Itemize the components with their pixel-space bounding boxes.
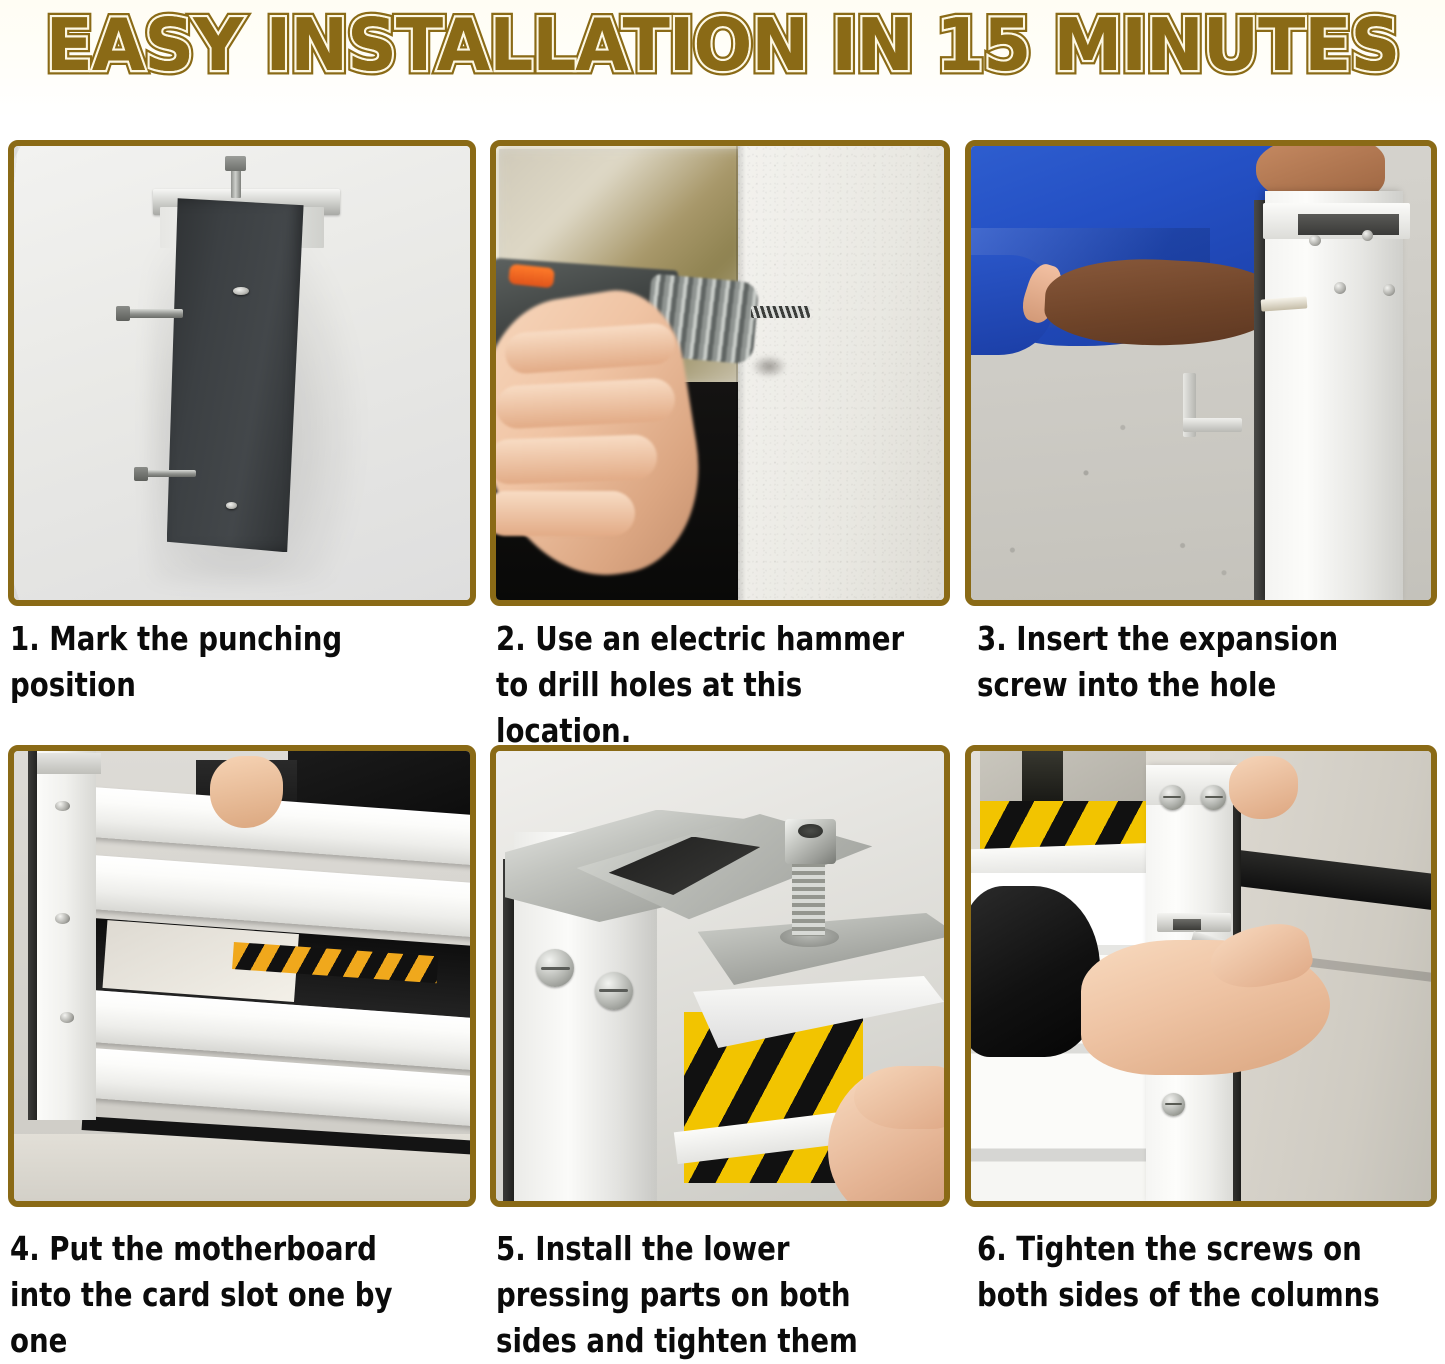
column-screw-1 xyxy=(55,801,70,812)
top-bolt-head xyxy=(225,156,246,171)
lower-side-bolt-head xyxy=(134,467,148,481)
white-column-post xyxy=(1265,191,1403,600)
step-1-photo xyxy=(14,146,470,600)
post-screw-4 xyxy=(1383,284,1395,296)
step-3-caption: 3. Insert the expansion screw into the h… xyxy=(977,616,1405,708)
finger-3 xyxy=(496,434,658,485)
step-5-caption: 5. Install the lower pressing parts on b… xyxy=(496,1226,919,1364)
step-4-caption: 4. Put the motherboard into the card slo… xyxy=(10,1226,447,1364)
step-2-caption: 2. Use an electric hammer to drill holes… xyxy=(496,616,919,754)
step-1-caption: 1. Mark the punching position xyxy=(10,616,447,708)
column-screw-2 xyxy=(55,913,70,924)
hand-fingers xyxy=(854,1066,944,1129)
upper-dark-gap xyxy=(1022,751,1063,801)
step-6-image-frame xyxy=(965,745,1437,1207)
post-screw-2 xyxy=(1362,230,1373,241)
drill-dust xyxy=(751,355,787,378)
step-5-image-frame xyxy=(490,745,950,1207)
step-6-photo xyxy=(971,751,1431,1201)
step-6-cell xyxy=(965,745,1437,1207)
step-3-cell xyxy=(965,140,1437,606)
step-4-image-frame xyxy=(8,745,476,1207)
second-hand-on-column xyxy=(1229,756,1298,819)
allen-key-short-arm xyxy=(1183,418,1243,432)
post-top-slot xyxy=(1298,214,1399,234)
step-5-photo xyxy=(496,751,944,1201)
step-2-cell xyxy=(490,140,950,606)
step-3-image-frame xyxy=(965,140,1437,606)
dark-grey-column xyxy=(167,198,304,552)
screwdriver-tip xyxy=(1173,919,1201,930)
wall-edge-shadow xyxy=(736,146,746,600)
column-lower-hole xyxy=(226,502,237,508)
column-top-bracket xyxy=(37,753,101,773)
step-5-cell xyxy=(490,745,950,1207)
column-lower-screw xyxy=(1162,1093,1185,1116)
step-3-photo xyxy=(971,146,1431,600)
step-2-photo xyxy=(496,146,944,600)
masonry-drill-bit xyxy=(751,306,809,318)
column-screw-3 xyxy=(60,1012,75,1023)
step-4-cell xyxy=(8,745,476,1207)
finger-4 xyxy=(496,491,635,536)
hex-bolt-thread xyxy=(792,859,826,936)
step-4-photo xyxy=(14,751,470,1201)
step-2-image-frame xyxy=(490,140,950,606)
column-top-screw-2 xyxy=(1201,785,1226,810)
installation-steps-grid: 1. Mark the punching position 2. Use a xyxy=(0,0,1445,1352)
hand-placing-board xyxy=(210,756,283,828)
upper-background-block xyxy=(980,751,1146,801)
step-6-caption: 6. Tighten the screws on both sides of t… xyxy=(977,1226,1405,1318)
step-1-cell xyxy=(8,140,476,606)
column-top-screw-1 xyxy=(1160,785,1185,810)
bracket-screw-2 xyxy=(595,972,633,1010)
step-1-image-frame xyxy=(8,140,476,606)
middle-side-bolt-head xyxy=(116,306,131,321)
